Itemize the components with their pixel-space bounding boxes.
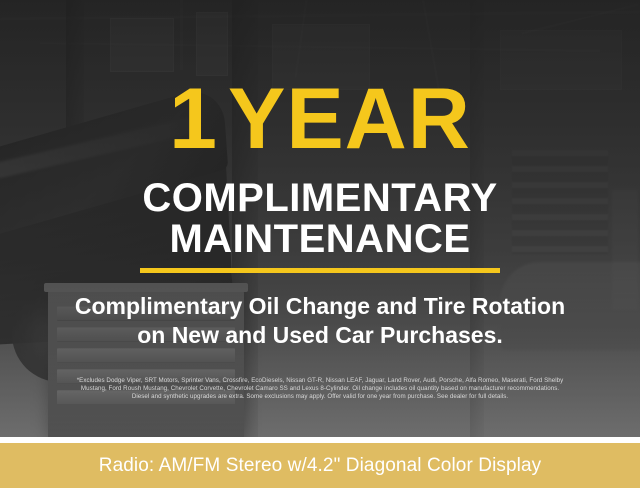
- disclaimer-line-3: Diesel and synthetic upgrades are extra.…: [14, 393, 626, 401]
- disclaimer-line-1: *Excludes Dodge Viper, SRT Motors, Sprin…: [14, 377, 626, 385]
- promo-banner: 1YEAR COMPLIMENTARY MAINTENANCE Complime…: [0, 0, 640, 488]
- promo-copy: 1YEAR COMPLIMENTARY MAINTENANCE Complime…: [0, 0, 640, 437]
- headline-number: 1: [169, 71, 218, 167]
- feature-caption-text: Radio: AM/FM Stereo w/4.2" Diagonal Colo…: [99, 455, 542, 477]
- headline-year-word: YEAR: [228, 71, 471, 167]
- headline-maintenance: MAINTENANCE: [0, 219, 640, 259]
- headline-one-year: 1YEAR: [0, 76, 640, 162]
- offer-description: Complimentary Oil Change and Tire Rotati…: [24, 292, 616, 350]
- feature-caption-bar: Radio: AM/FM Stereo w/4.2" Diagonal Colo…: [0, 443, 640, 488]
- headline-complimentary: COMPLIMENTARY: [0, 178, 640, 218]
- offer-line-2: on New and Used Car Purchases.: [24, 321, 616, 350]
- disclaimer-line-2: Mustang, Ford Roush Mustang, Chevrolet C…: [14, 385, 626, 393]
- yellow-divider-rule: [140, 268, 500, 273]
- legal-disclaimer: *Excludes Dodge Viper, SRT Motors, Sprin…: [14, 377, 626, 402]
- offer-line-1: Complimentary Oil Change and Tire Rotati…: [75, 293, 565, 319]
